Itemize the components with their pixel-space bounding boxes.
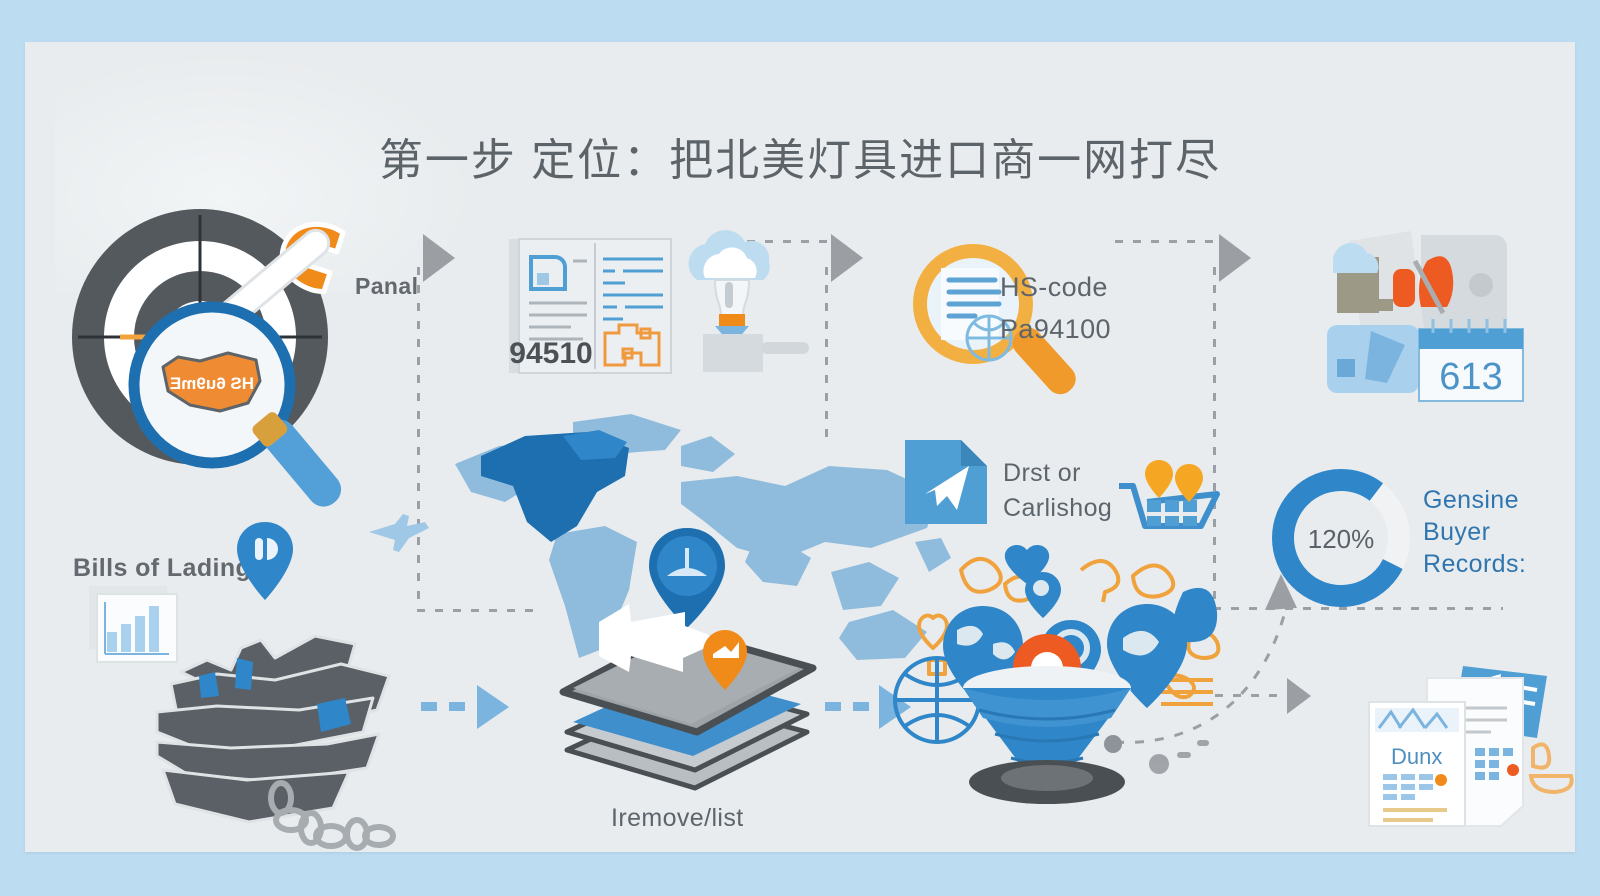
connector-c2-arrowhead xyxy=(831,234,863,282)
connector-c1-arrowhead xyxy=(423,234,455,282)
donut-chart-icon: 120% xyxy=(1273,470,1409,606)
node-label-remove-list: Iremove/list xyxy=(611,802,744,834)
node-label-funnel-line2: Carlishog xyxy=(1003,492,1112,524)
report-stack-icon: Dunx xyxy=(1355,652,1575,832)
target-magnifier-icon: HS 6u9mE xyxy=(60,197,400,497)
node-label-buyer-records: Gensine Buyer Records: xyxy=(1423,484,1526,580)
infographic-canvas: 第一步 定位：把北美灯具进口商一网打尽 xyxy=(0,0,1600,896)
catalog-code-value: 94510 xyxy=(509,337,592,370)
product-card-icon: 94510 xyxy=(505,237,675,377)
report-heading: Dunx xyxy=(1391,744,1442,769)
content-panel: 第一步 定位：把北美灯具进口商一网打尽 xyxy=(25,42,1575,852)
connector-c6-line-right xyxy=(1215,694,1290,697)
target-map-badge-text: HS 6u9mE xyxy=(170,374,254,393)
donut-center-value: 120% xyxy=(1308,524,1375,554)
calendar-value: 613 xyxy=(1439,356,1502,398)
connector-c1-vertical xyxy=(417,267,420,612)
funnel-pins-icon xyxy=(875,532,1225,802)
lamp-cloud-icon xyxy=(673,234,793,374)
connector-c3-horizontal xyxy=(1115,240,1215,243)
document-share-icon xyxy=(903,434,989,530)
node-label-hs-code-line2: Pa94100 xyxy=(1000,312,1111,347)
connector-c3-arrowhead xyxy=(1219,234,1251,282)
node-label-panal: Panal xyxy=(355,272,418,301)
page-title: 第一步 定位：把北美灯具进口商一网打尽 xyxy=(25,124,1575,188)
node-label-funnel-line1: Drst or xyxy=(1003,457,1081,489)
node-label-hs-code-line1: HS-code xyxy=(1000,270,1108,305)
world-map-books-icon xyxy=(553,572,813,802)
cargo-map-icon xyxy=(85,572,425,842)
calendar-icon: 613 xyxy=(1417,317,1527,405)
connector-c6-arrowhead-right xyxy=(1287,678,1311,714)
